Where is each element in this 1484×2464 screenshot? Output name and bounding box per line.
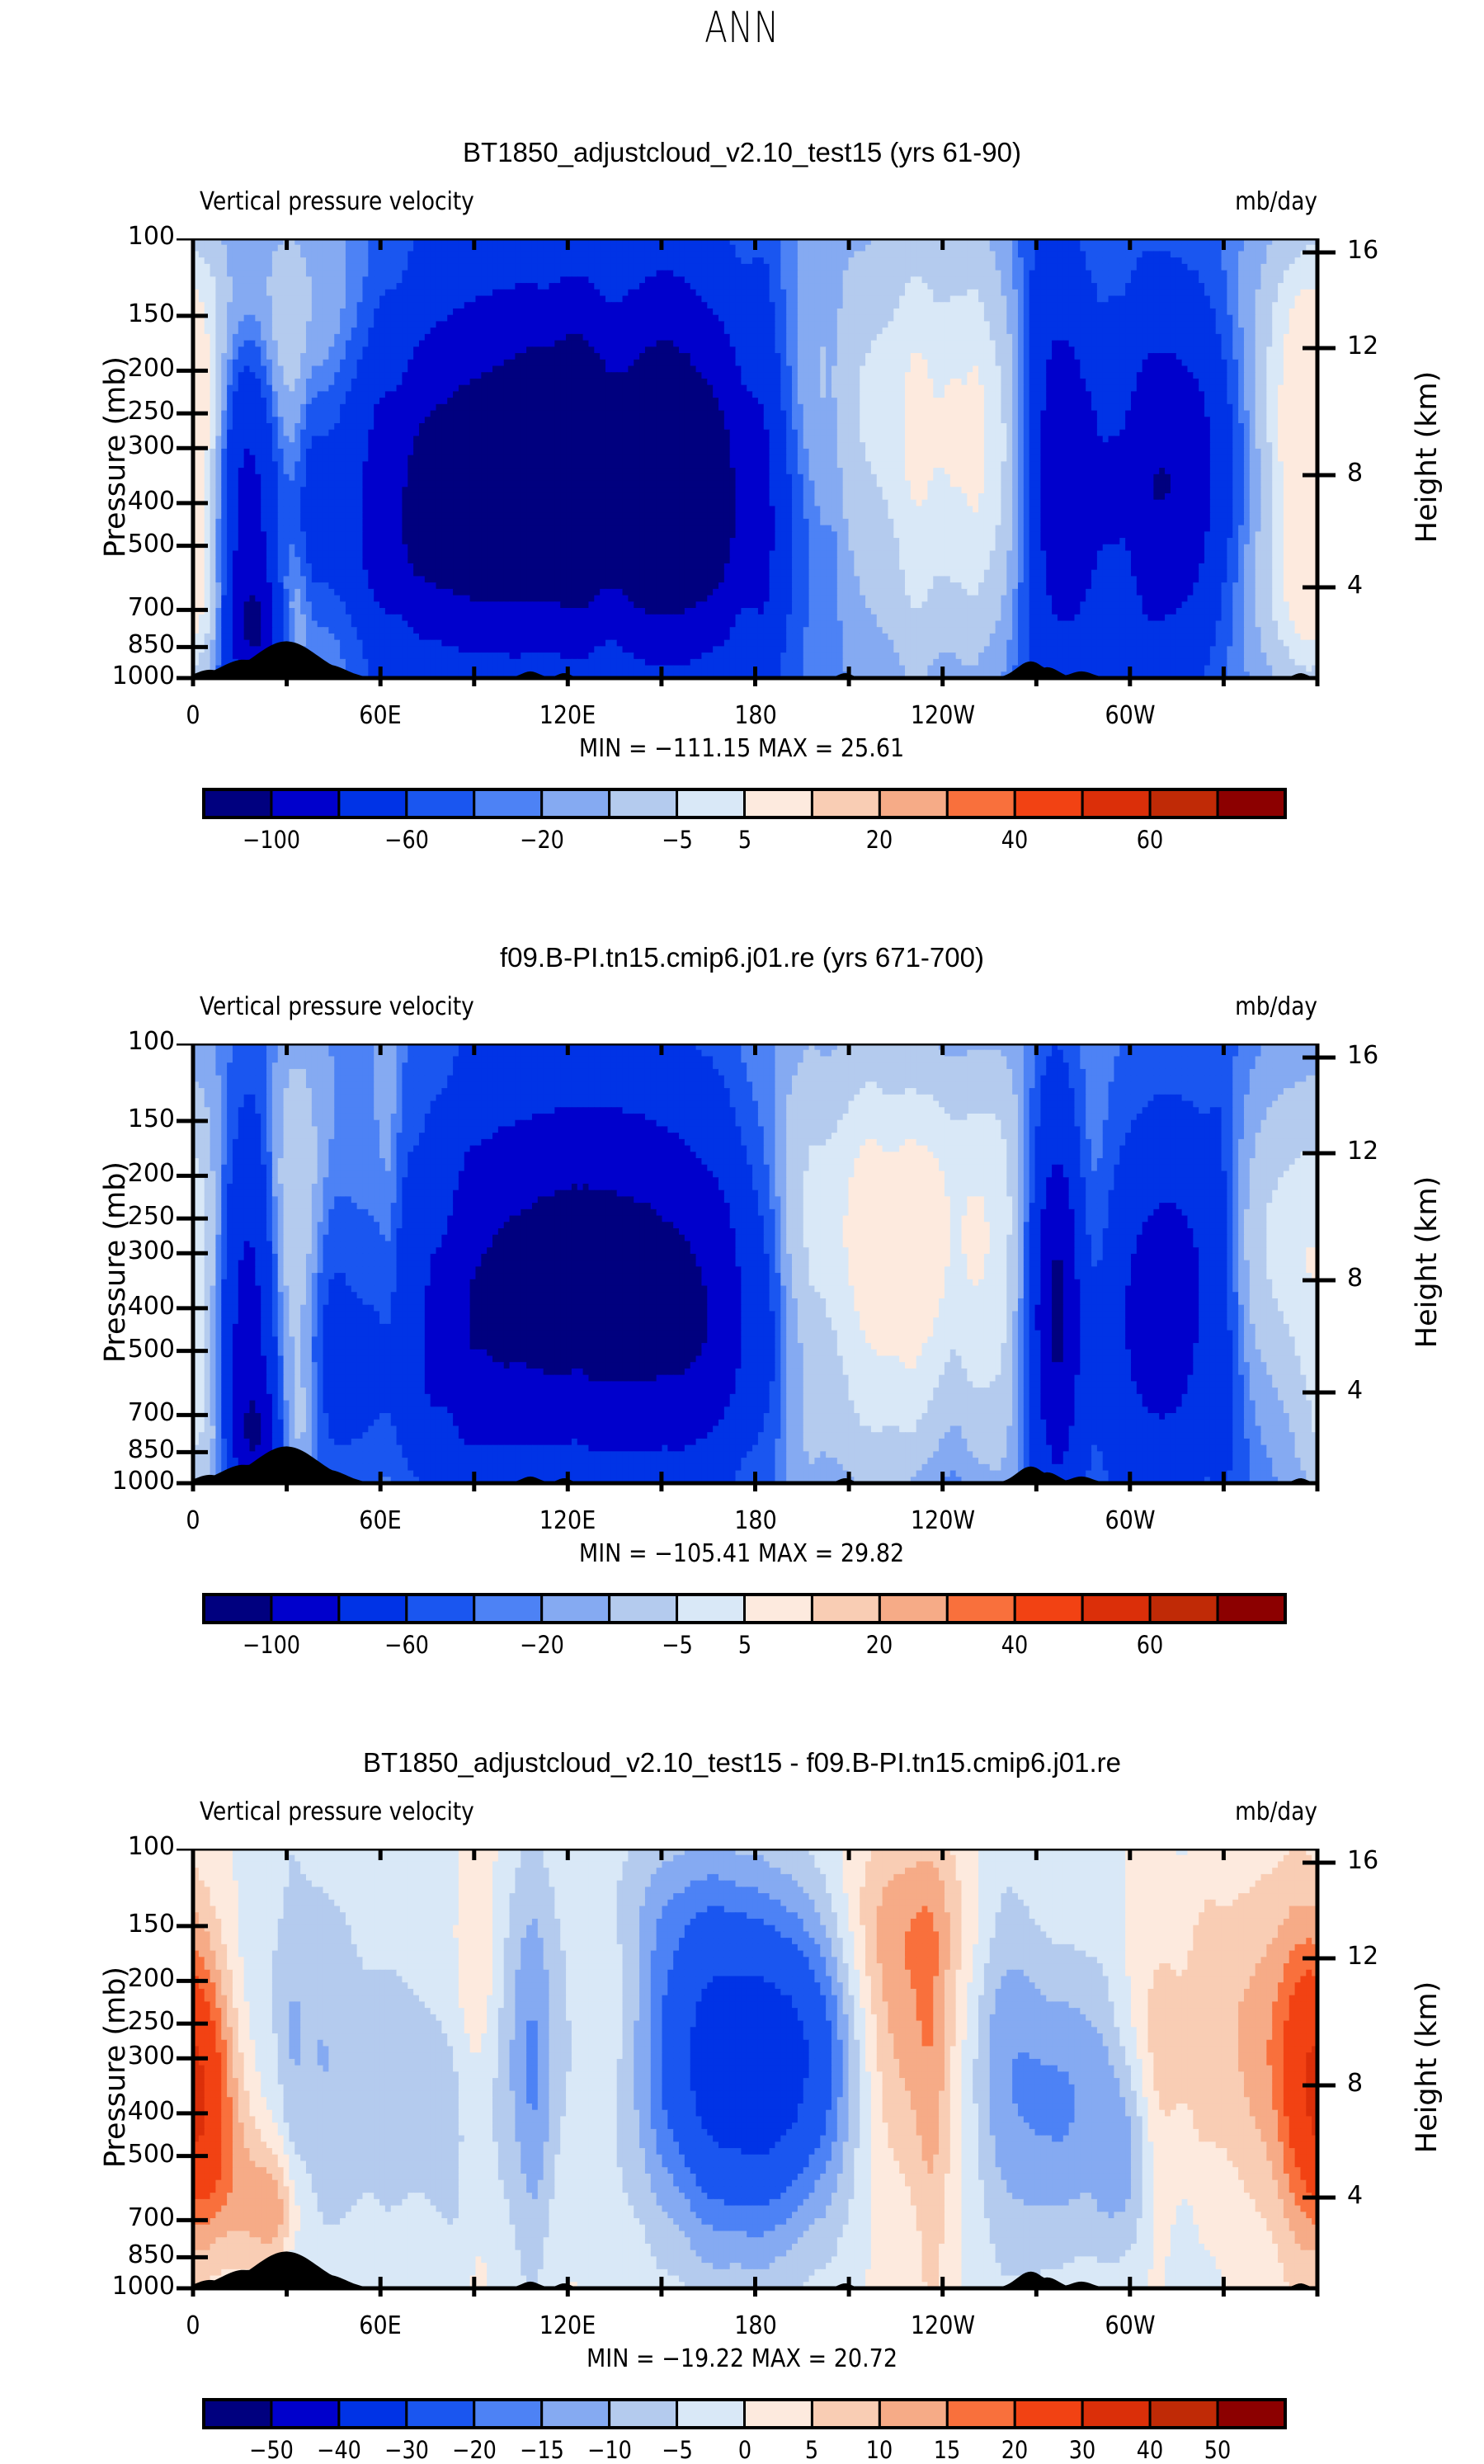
minmax-label-2: MIN = −19.22 MAX = 20.72: [0, 2344, 1484, 2373]
colorbar-tick-1-7: 60: [1100, 1631, 1201, 1659]
pressure-tick-2-7: 700: [18, 2203, 175, 2232]
pressure-tick-0-6: 500: [18, 530, 175, 558]
pressure-tick-0-0: 100: [18, 222, 175, 251]
lon-tick-1-5: 60W: [1063, 1506, 1197, 1535]
pressure-tick-1-2: 200: [18, 1159, 175, 1188]
pressure-tick-2-5: 400: [18, 2097, 175, 2126]
lon-tick-0-1: 60E: [313, 701, 447, 730]
pressure-tick-1-5: 400: [18, 1292, 175, 1321]
colorbar-tick-0-6: 40: [964, 826, 1066, 854]
pressure-tick-0-1: 150: [18, 299, 175, 328]
units-label-2: mb/day: [1136, 1797, 1317, 1826]
pressure-tick-0-7: 700: [18, 593, 175, 622]
height-tick-2-0: 16: [1347, 1846, 1446, 1875]
colorbar-tick-0-2: −20: [491, 826, 592, 854]
pressure-tick-0-4: 300: [18, 431, 175, 460]
pressure-tick-1-9: 1000: [18, 1467, 175, 1496]
pressure-tick-2-4: 300: [18, 2042, 175, 2071]
lon-tick-2-5: 60W: [1063, 2311, 1197, 2340]
lon-tick-1-1: 60E: [313, 1506, 447, 1535]
pressure-tick-1-4: 300: [18, 1237, 175, 1265]
height-tick-2-3: 4: [1347, 2181, 1446, 2210]
height-tick-0-3: 4: [1347, 571, 1446, 600]
height-tick-0-0: 16: [1347, 236, 1446, 265]
pressure-tick-1-3: 250: [18, 1202, 175, 1231]
height-tick-1-3: 4: [1347, 1376, 1446, 1405]
colorbar-tick-2-14: 50: [1166, 2436, 1268, 2464]
lon-tick-0-2: 120E: [501, 701, 634, 730]
pressure-tick-2-3: 250: [18, 2007, 175, 2036]
variable-label-2: Vertical pressure velocity: [200, 1797, 474, 1826]
pressure-tick-2-9: 1000: [18, 2272, 175, 2301]
colorbar-tick-1-6: 40: [964, 1631, 1066, 1659]
units-label-0: mb/day: [1136, 187, 1317, 216]
colorbar-tick-0-7: 60: [1100, 826, 1201, 854]
panel-title-2: BT1850_adjustcloud_v2.10_test15 - f09.B-…: [0, 1747, 1484, 1779]
lon-tick-0-3: 180: [689, 701, 822, 730]
colorbar-tick-1-1: −60: [356, 1631, 457, 1659]
panel-title-1: f09.B-PI.tn15.cmip6.j01.re (yrs 671-700): [0, 942, 1484, 973]
pressure-tick-2-6: 500: [18, 2140, 175, 2169]
colorbar-tick-1-2: −20: [491, 1631, 592, 1659]
minmax-label-1: MIN = −105.41 MAX = 29.82: [0, 1539, 1484, 1568]
pressure-tick-1-1: 150: [18, 1105, 175, 1133]
lon-tick-0-5: 60W: [1063, 701, 1197, 730]
colorbar-tick-1-0: −100: [220, 1631, 322, 1659]
height-tick-2-2: 8: [1347, 2069, 1446, 2098]
pressure-tick-0-5: 400: [18, 487, 175, 516]
lon-tick-2-0: 0: [126, 2311, 260, 2340]
colorbar-tick-1-4: 5: [694, 1631, 795, 1659]
pressure-tick-0-3: 250: [18, 397, 175, 426]
units-label-1: mb/day: [1136, 992, 1317, 1021]
minmax-label-0: MIN = −111.15 MAX = 25.61: [0, 734, 1484, 763]
height-tick-1-0: 16: [1347, 1041, 1446, 1070]
pressure-tick-2-1: 150: [18, 1910, 175, 1939]
lon-tick-2-4: 120W: [876, 2311, 1010, 2340]
lon-tick-1-3: 180: [689, 1506, 822, 1535]
pressure-tick-1-8: 850: [18, 1435, 175, 1464]
lon-tick-0-4: 120W: [876, 701, 1010, 730]
main-title: ANN: [163, 3, 1321, 53]
variable-label-1: Vertical pressure velocity: [200, 992, 474, 1021]
variable-label-0: Vertical pressure velocity: [200, 187, 474, 216]
pressure-tick-1-7: 700: [18, 1398, 175, 1427]
height-tick-1-2: 8: [1347, 1264, 1446, 1293]
pressure-tick-0-9: 1000: [18, 662, 175, 690]
colorbar-tick-0-4: 5: [694, 826, 795, 854]
height-tick-0-1: 12: [1347, 332, 1446, 360]
height-tick-1-1: 12: [1347, 1137, 1446, 1166]
panel-title-0: BT1850_adjustcloud_v2.10_test15 (yrs 61-…: [0, 137, 1484, 168]
lon-tick-2-1: 60E: [313, 2311, 447, 2340]
figure-root: ANN BT1850_adjustcloud_v2.10_test15 (yrs…: [0, 0, 1484, 2454]
pressure-tick-2-8: 850: [18, 2240, 175, 2269]
pressure-tick-2-0: 100: [18, 1832, 175, 1861]
lon-tick-0-0: 0: [126, 701, 260, 730]
colorbar-tick-1-5: 20: [829, 1631, 930, 1659]
pressure-tick-1-0: 100: [18, 1027, 175, 1056]
pressure-tick-0-8: 850: [18, 630, 175, 659]
colorbar-tick-0-0: −100: [220, 826, 322, 854]
pressure-tick-0-2: 200: [18, 354, 175, 383]
lon-tick-2-3: 180: [689, 2311, 822, 2340]
height-tick-2-1: 12: [1347, 1942, 1446, 1971]
colorbar-tick-0-5: 20: [829, 826, 930, 854]
lon-tick-1-2: 120E: [501, 1506, 634, 1535]
colorbar-tick-0-1: −60: [356, 826, 457, 854]
height-tick-0-2: 8: [1347, 459, 1446, 488]
lon-tick-2-2: 120E: [501, 2311, 634, 2340]
lon-tick-1-4: 120W: [876, 1506, 1010, 1535]
pressure-tick-2-2: 200: [18, 1964, 175, 1993]
pressure-tick-1-6: 500: [18, 1335, 175, 1364]
lon-tick-1-0: 0: [126, 1506, 260, 1535]
